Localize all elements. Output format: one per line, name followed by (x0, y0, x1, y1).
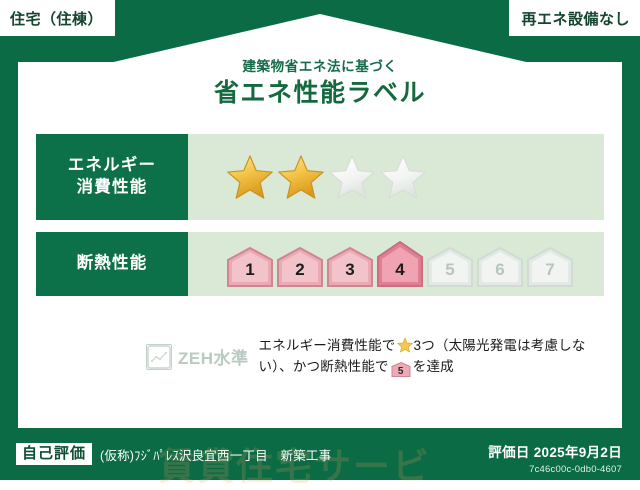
insulation-performance-value: 1 2 3 (188, 232, 604, 296)
energy-label-line1: エネルギー (68, 155, 157, 177)
grade-badge-1: 1 (226, 247, 274, 287)
insulation-performance-row: 断熱性能 1 (36, 232, 604, 296)
grade-badge-6: 6 (476, 247, 524, 287)
zeh-grade-mini-number: 5 (391, 362, 411, 379)
zeh-grade-mini-badge: 5 (391, 362, 411, 377)
evaluation-date: 評価日 2025年9月2日 (488, 444, 622, 462)
energy-label-line2: 消費性能 (77, 177, 148, 199)
project-name: (仮称)ﾌｼﾞﾊﾟﾚｽ沢良宜西一丁目 新築工事 (100, 445, 331, 464)
grade-badge-4-achieved: 4 (376, 241, 424, 287)
star-rating (226, 153, 427, 201)
inline-star-icon (397, 337, 413, 353)
grade-badge-number: 4 (395, 261, 404, 287)
star-filled-icon (226, 153, 274, 201)
star-empty-icon (379, 153, 427, 201)
grade-badge-7: 7 (526, 247, 574, 287)
grade-badge-number: 5 (445, 261, 454, 287)
insulation-performance-label: 断熱性能 (36, 232, 188, 296)
roof-notch-shape (105, 14, 535, 62)
footer-left-group: 自己評価 (仮称)ﾌｼﾞﾊﾟﾚｽ沢良宜西一丁目 新築工事 (16, 428, 331, 480)
energy-performance-value (188, 134, 604, 220)
zeh-desc-part1: エネルギー消費性能で (259, 338, 396, 353)
evaluation-id: 7c46c00c-0db0-4607 (488, 463, 622, 476)
star-filled-icon (277, 153, 325, 201)
energy-performance-label: エネルギー 消費性能 (36, 134, 188, 220)
building-type-tag: 住宅（住棟） (0, 0, 115, 36)
evaluation-type-chip: 自己評価 (16, 443, 92, 466)
grade-badge-number: 2 (295, 261, 304, 287)
zeh-description: エネルギー消費性能で3つ（太陽光発電は考慮しない）、かつ断熱性能で5を達成 (259, 336, 587, 377)
title-subtitle: 建築物省エネ法に基づく (0, 58, 640, 76)
grade-badge-number: 7 (545, 261, 554, 287)
insulation-label-line1: 断熱性能 (77, 253, 148, 275)
energy-performance-label: 住宅（住棟） 再エネ設備なし 建築物省エネ法に基づく 省エネ性能ラベル 賃貸住宅… (0, 0, 640, 480)
zeh-mark: ZEH水準 (146, 344, 249, 370)
star-empty-icon (328, 153, 376, 201)
zeh-mark-label: ZEH水準 (178, 344, 249, 369)
zeh-house-icon (146, 344, 172, 370)
label-title-block: 建築物省エネ法に基づく 省エネ性能ラベル (0, 58, 640, 110)
title-main: 省エネ性能ラベル (0, 77, 640, 111)
insulation-grade-scale: 1 2 3 (226, 241, 574, 287)
grade-badge-number: 6 (495, 261, 504, 287)
grade-badge-2: 2 (276, 247, 324, 287)
grade-badge-5: 5 (426, 247, 474, 287)
grade-badge-number: 3 (345, 261, 354, 287)
grade-badge-3: 3 (326, 247, 374, 287)
label-body-panel: 賃貸住宅サービ エネルギー 消費性能 (18, 124, 622, 428)
grade-badge-number: 1 (245, 261, 254, 287)
renewable-equipment-tag: 再エネ設備なし (509, 0, 640, 36)
zeh-desc-part3: を達成 (413, 359, 454, 374)
zeh-standard-row: ZEH水準 エネルギー消費性能で3つ（太陽光発電は考慮しない）、かつ断熱性能で5… (146, 336, 586, 377)
energy-performance-row: エネルギー 消費性能 (36, 134, 604, 220)
footer-right-group: 評価日 2025年9月2日 7c46c00c-0db0-4607 (488, 444, 622, 476)
